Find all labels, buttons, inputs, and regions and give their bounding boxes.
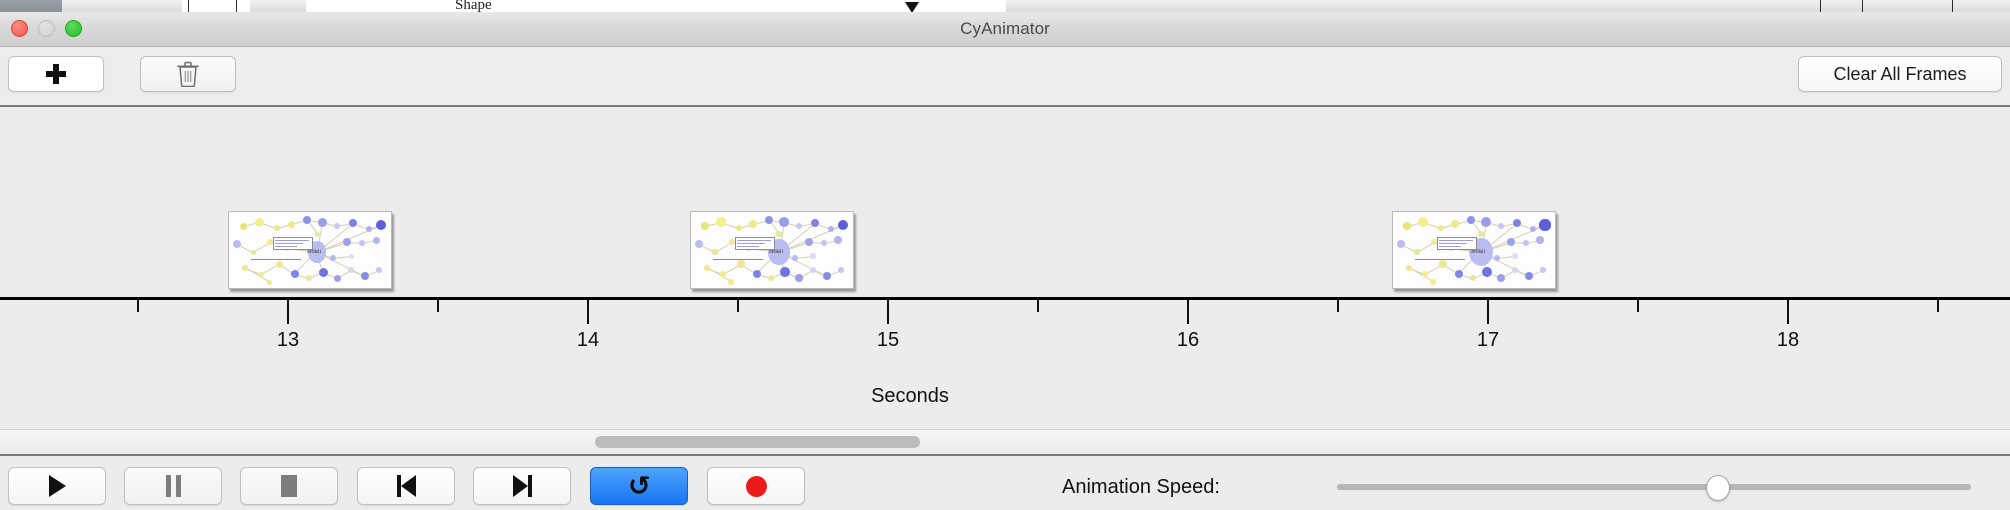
timeline-axis-title-text: Seconds <box>871 385 949 407</box>
network-node <box>366 226 372 232</box>
network-callout-text-line <box>1439 246 1461 247</box>
network-node <box>359 240 365 246</box>
network-node <box>233 240 241 248</box>
toolbar: Clear All Frames <box>0 47 2010 107</box>
clear-all-frames-button[interactable]: Clear All Frames <box>1798 56 2002 92</box>
network-node <box>343 238 351 246</box>
network-node <box>349 254 354 259</box>
ruler-tick-label: 13 <box>277 329 299 352</box>
network-node <box>1525 272 1534 281</box>
network-node <box>795 274 802 281</box>
network-node <box>373 237 380 244</box>
network-node <box>712 249 717 254</box>
network-annotation-text <box>713 259 763 260</box>
network-node <box>1536 236 1544 244</box>
loop-button[interactable]: ↻ <box>590 467 688 505</box>
playback-control-bar: ↻ Animation Speed: <box>0 454 2010 510</box>
network-node <box>1540 267 1547 274</box>
network-callout-text-line <box>737 240 771 241</box>
play-button[interactable] <box>8 467 106 505</box>
network-annotation-text <box>1415 259 1465 260</box>
network-node <box>828 226 834 232</box>
network-node <box>306 275 312 281</box>
network-callout-text-line <box>737 243 765 244</box>
network-node <box>274 225 280 231</box>
network-node <box>716 217 726 227</box>
network-node <box>242 265 248 271</box>
network-node <box>810 253 815 258</box>
network-node <box>1481 217 1491 227</box>
network-node <box>376 220 386 230</box>
network-node <box>838 267 844 273</box>
network-node <box>1539 219 1550 230</box>
ruler-tick-label: 16 <box>1177 329 1199 352</box>
ruler-minor-tick <box>1937 300 1939 312</box>
network-node <box>376 267 382 273</box>
network-preview: MCM1 <box>229 212 391 288</box>
network-node <box>1438 225 1445 232</box>
ruler-major-tick <box>1487 300 1489 324</box>
network-node <box>1497 274 1505 282</box>
network-node <box>736 225 742 231</box>
network-node <box>267 280 272 285</box>
network-preview: MCM1 <box>1393 212 1555 288</box>
network-node <box>348 267 354 273</box>
ruler-major-tick <box>1187 300 1189 324</box>
ruler-minor-tick <box>1337 300 1339 312</box>
network-node <box>303 216 311 224</box>
window-titlebar: CyAnimator <box>0 12 2010 47</box>
network-node <box>701 222 708 229</box>
animation-speed-slider[interactable] <box>1337 484 1971 490</box>
network-node <box>315 232 320 237</box>
network-node <box>1439 260 1447 268</box>
network-callout-text-line <box>1439 243 1467 244</box>
ruler-minor-tick <box>1037 300 1039 312</box>
network-node <box>1482 267 1492 277</box>
timeline-frame-thumbnail[interactable]: MCM1 <box>228 211 392 289</box>
ruler-tick-label: 15 <box>877 329 899 352</box>
network-node <box>823 272 831 280</box>
network-preview: MCM1 <box>691 212 853 288</box>
network-node <box>1470 275 1477 282</box>
network-node <box>749 220 756 227</box>
network-node <box>1513 219 1522 228</box>
network-callout-text-line <box>275 243 303 244</box>
timeline-scrollbar-thumb[interactable] <box>595 436 920 448</box>
network-node <box>330 255 336 261</box>
network-node <box>728 279 733 284</box>
network-node <box>1530 226 1537 233</box>
network-node <box>334 223 340 229</box>
timeline-frame-thumbnail[interactable]: MCM1 <box>1392 211 1556 289</box>
network-node <box>1414 249 1420 255</box>
network-callout-text-line <box>737 246 759 247</box>
network-node <box>838 220 849 231</box>
timeline-axis-title: Seconds <box>0 385 2010 408</box>
network-node <box>276 261 283 268</box>
add-frame-button[interactable] <box>8 56 104 92</box>
stop-icon <box>281 475 297 497</box>
skip-back-icon <box>397 475 416 497</box>
network-node <box>796 223 802 229</box>
network-callout-text-line <box>275 240 309 241</box>
network-node <box>780 267 790 277</box>
ruler-major-tick <box>887 300 889 324</box>
frame-shadow <box>1395 288 1556 289</box>
delete-frame-button[interactable] <box>140 56 236 92</box>
timeline-ruler-baseline <box>0 297 2010 300</box>
network-node <box>349 219 357 227</box>
network-node <box>1403 222 1411 230</box>
network-node <box>1507 238 1516 247</box>
network-node <box>240 223 247 230</box>
network-node <box>1430 279 1436 285</box>
network-node <box>753 270 761 278</box>
network-node <box>1523 240 1530 247</box>
timeline-scrollbar[interactable] <box>0 429 2010 454</box>
network-node <box>821 240 827 246</box>
network-node <box>737 260 744 267</box>
previous-frame-button[interactable] <box>357 467 455 505</box>
network-node <box>776 231 781 236</box>
network-node <box>834 236 841 243</box>
network-node <box>1455 270 1464 279</box>
skip-forward-icon <box>513 475 532 497</box>
play-icon <box>49 475 66 497</box>
animation-speed-slider-thumb[interactable] <box>1706 475 1730 501</box>
network-callout-text-line <box>275 246 297 247</box>
network-node <box>334 275 341 282</box>
pause-icon <box>166 475 181 497</box>
network-node <box>1406 265 1413 272</box>
network-node <box>259 272 264 277</box>
ruler-minor-tick <box>437 300 439 312</box>
ruler-tick-label: 14 <box>577 329 599 352</box>
ruler-major-tick <box>1787 300 1789 324</box>
trash-icon <box>177 61 199 87</box>
pause-button[interactable] <box>124 467 222 505</box>
ruler-major-tick <box>287 300 289 324</box>
network-node <box>1451 220 1459 228</box>
window-title: CyAnimator <box>0 19 2010 39</box>
animation-speed-label: Animation Speed: <box>1062 476 1220 499</box>
plus-icon <box>46 64 66 84</box>
network-node <box>805 238 813 246</box>
cyanimator-window: CyAnimator Clear All Frames MCM1MCM1MCM1… <box>0 12 2010 510</box>
network-node <box>291 270 299 278</box>
network-node <box>1478 231 1484 237</box>
network-annotation-text <box>251 259 301 260</box>
network-node <box>1418 217 1428 227</box>
record-icon <box>746 476 767 497</box>
network-node <box>288 221 295 228</box>
frame-shadow <box>693 288 854 289</box>
network-node <box>779 217 789 227</box>
timeline-frame-thumbnail[interactable]: MCM1 <box>690 211 854 289</box>
frame-shadow <box>231 288 392 289</box>
network-node <box>811 219 819 227</box>
ruler-tick-label: 18 <box>1777 329 1799 352</box>
network-node <box>255 218 264 227</box>
ruler-tick-label: 17 <box>1477 329 1499 352</box>
stop-button[interactable] <box>240 467 338 505</box>
network-node <box>720 271 725 276</box>
network-node <box>1512 253 1518 259</box>
ruler-minor-tick <box>1637 300 1639 312</box>
ruler-major-tick <box>587 300 589 324</box>
ruler-minor-tick <box>737 300 739 312</box>
network-node <box>1498 223 1505 230</box>
network-node <box>1422 271 1428 277</box>
network-edge <box>245 267 270 282</box>
network-node <box>318 218 327 227</box>
record-button[interactable] <box>707 467 805 505</box>
network-callout-text-line <box>1439 240 1473 241</box>
next-frame-button[interactable] <box>473 467 571 505</box>
network-node <box>319 268 328 277</box>
timeline-canvas[interactable]: MCM1MCM1MCM1 2131415161718 Seconds <box>0 107 2010 429</box>
loop-icon: ↻ <box>628 473 651 500</box>
network-node <box>251 250 256 255</box>
network-node <box>768 275 774 281</box>
ruler-minor-tick <box>137 300 139 312</box>
network-node <box>361 272 369 280</box>
